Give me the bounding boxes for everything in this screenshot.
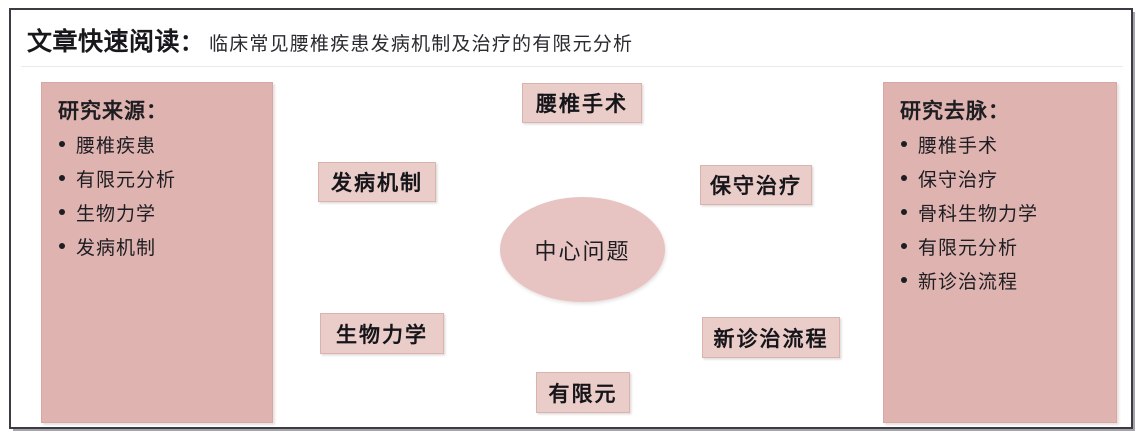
chip-new-care-pathway: 新诊治流程 (702, 317, 840, 358)
chip-finite-element: 有限元 (536, 372, 630, 413)
panel-research-source: 研究来源： 腰椎疾患 有限元分析 生物力学 发病机制 (41, 82, 273, 423)
page-subtitle: 临床常见腰椎疾患发病机制及治疗的有限元分析 (209, 29, 633, 56)
page-title: 文章快速阅读 (27, 22, 180, 58)
list-item: 有限元分析 (56, 165, 260, 192)
panel-left-list: 腰椎疾患 有限元分析 生物力学 发病机制 (56, 131, 260, 260)
chip-lumbar-surgery: 腰椎手术 (522, 83, 642, 123)
title-colon: ： (180, 23, 203, 57)
list-item: 腰椎手术 (898, 131, 1104, 158)
chip-biomechanics: 生物力学 (320, 313, 444, 354)
title-row: 文章快速阅读 ： 临床常见腰椎疾患发病机制及治疗的有限元分析 (27, 22, 1115, 62)
title-divider (21, 66, 1123, 67)
chip-pathogenesis: 发病机制 (318, 162, 436, 202)
central-question-node: 中心问题 (500, 197, 665, 302)
list-item: 保守治疗 (898, 165, 1104, 192)
list-item: 骨科生物力学 (898, 199, 1104, 226)
panel-left-heading: 研究来源： (58, 95, 260, 125)
list-item: 生物力学 (56, 199, 260, 226)
panel-right-list: 腰椎手术 保守治疗 骨科生物力学 有限元分析 新诊治流程 (898, 131, 1104, 294)
diagram-frame: 文章快速阅读 ： 临床常见腰椎疾患发病机制及治疗的有限元分析 研究来源： 腰椎疾… (9, 8, 1133, 429)
list-item: 腰椎疾患 (56, 131, 260, 158)
chip-conservative-therapy: 保守治疗 (700, 165, 812, 205)
panel-right-heading: 研究去脉： (900, 95, 1104, 125)
list-item: 发病机制 (56, 233, 260, 260)
panel-research-outcome: 研究去脉： 腰椎手术 保守治疗 骨科生物力学 有限元分析 新诊治流程 (883, 82, 1117, 423)
list-item: 新诊治流程 (898, 267, 1104, 294)
list-item: 有限元分析 (898, 233, 1104, 260)
